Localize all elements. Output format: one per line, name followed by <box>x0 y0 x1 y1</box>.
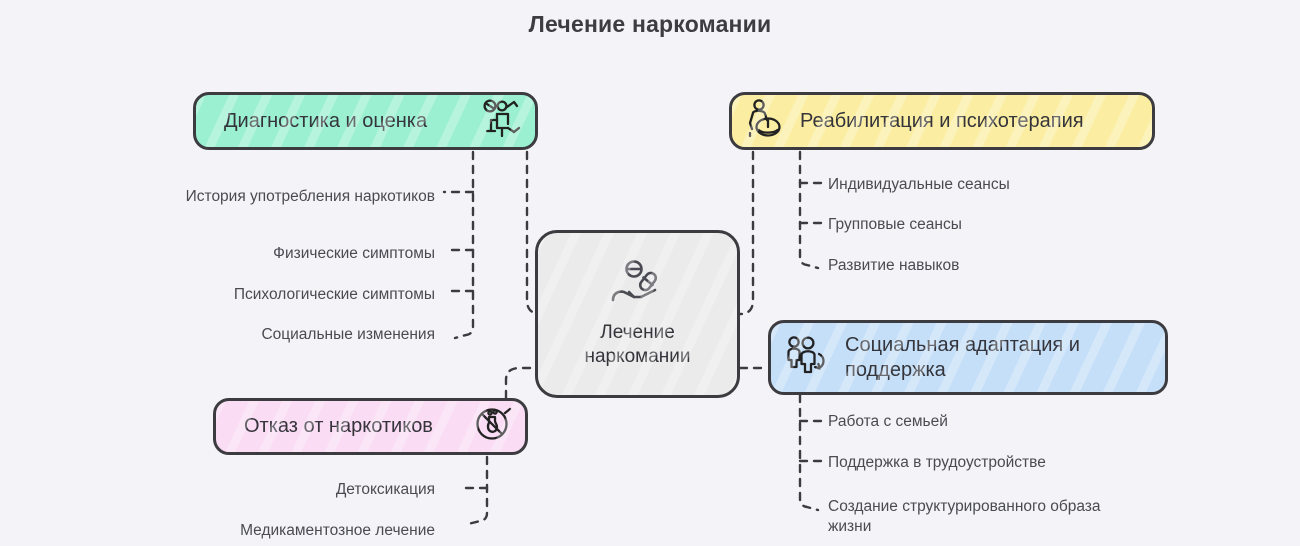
hand-holding-pills-icon <box>607 260 669 311</box>
branch-node-refusal[interactable]: Отказ от наркотиков <box>213 398 528 455</box>
branch-node-diagnostics[interactable]: Диагностика и оценка <box>193 92 538 150</box>
branch-node-rehabilitation[interactable]: Реабилитация и психотерапия <box>729 92 1155 150</box>
person-examination-icon <box>481 98 525 145</box>
therapy-session-icon <box>744 97 786 146</box>
leaf-social-2: Создание структурированного образа жизни <box>828 497 1133 538</box>
leaf-rehabilitation-2: Развитие навыков <box>828 256 1128 276</box>
leaf-diagnostics-2: Психологические симптомы <box>120 285 435 305</box>
no-drugs-icon <box>473 404 513 449</box>
branch-label-diagnostics: Диагностика и оценка <box>224 109 427 133</box>
leaf-refusal-0: Детоксикация <box>150 480 435 500</box>
branch-label-social: Социальная адаптация и поддержка <box>845 333 1080 382</box>
people-support-icon <box>785 334 831 381</box>
center-node-label: Лечение наркомании <box>584 321 690 367</box>
leaf-diagnostics-1: Физические симптомы <box>120 244 435 264</box>
leaf-refusal-1: Медикаментозное лечение <box>150 521 435 541</box>
leaf-diagnostics-0: История употребления наркотиков <box>120 187 435 207</box>
branch-label-refusal: Отказ от наркотиков <box>244 414 433 438</box>
leaf-social-1: Поддержка в трудоустройстве <box>828 453 1138 473</box>
leaf-diagnostics-3: Социальные изменения <box>120 325 435 345</box>
mindmap-canvas: Лечение наркомании <box>0 0 1300 546</box>
branch-label-rehabilitation: Реабилитация и психотерапия <box>800 109 1084 133</box>
branch-node-social[interactable]: Социальная адаптация и поддержка <box>768 320 1168 395</box>
leaf-rehabilitation-1: Групповые сеансы <box>828 215 1128 235</box>
leaf-social-0: Работа с семьей <box>828 412 1138 432</box>
leaf-rehabilitation-0: Индивидуальные сеансы <box>828 175 1128 195</box>
center-node[interactable]: Лечение наркомании <box>535 230 740 398</box>
